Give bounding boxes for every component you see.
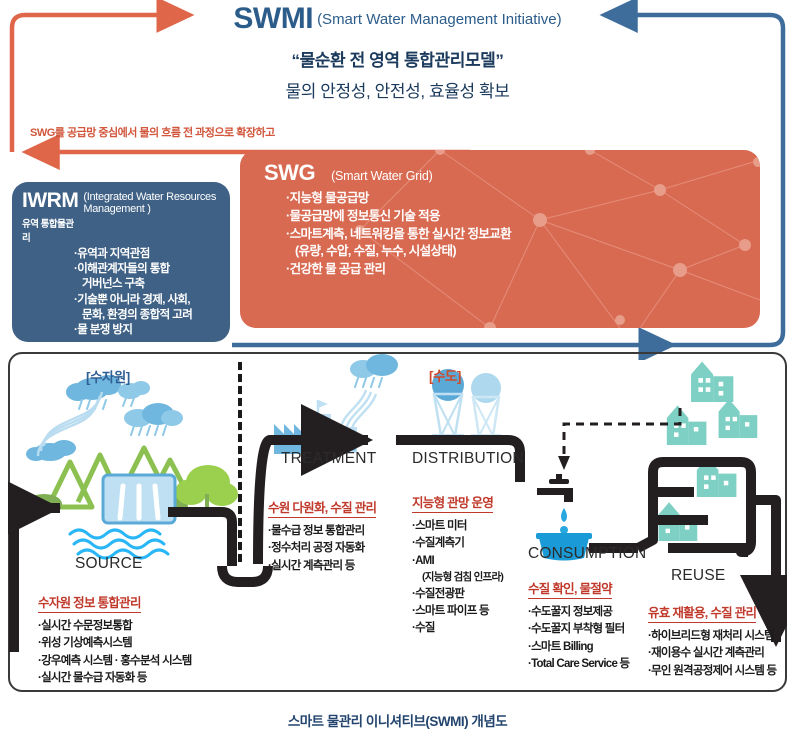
detail-title: 수질 확인, 물절약 [528,578,612,599]
list-item: 수질전광판 [412,586,503,603]
list-item: Total Care Service 등 [528,656,629,673]
stage-label-consumption: CONSUMPTION [528,545,646,563]
swg-bullet-list: 지능형 물공급망 물공급망에 정보통신 기술 적용 스마트계측, 네트워킹을 통… [286,190,760,279]
swmi-acronym: SWMI [233,2,313,35]
swg-expansion-note: SWG를 공급망 중심에서 물의 흐름 전 과정으로 확장하고 [30,124,275,140]
faucet-icon [537,474,573,502]
iwrm-box: IWRM 유역 통합물관리 (Integrated Water Resource… [12,182,230,342]
detail-list: 수도꿀지 정보제공 수도꿀지 부착형 필터 스마트 Billing Total … [528,604,629,673]
list-item: 거버넌스 구축 [74,277,220,292]
list-item: 위성 기상예측시스템 [38,635,192,652]
bracket-water-resources: [수자원] [86,366,130,386]
recycle-dashed-line [564,408,680,460]
detail-title: 수원 다원화, 수질 관리 [268,497,376,518]
list-item: 하이브리드형 재처리 시스템 [648,628,776,645]
houses-icon [659,362,758,541]
list-item: 스마트계측, 네트워킹을 통한 실시간 정보교환 [286,226,760,244]
detail-block-treatment: 수원 다원화, 수질 관리 물수급 정보 통합관리 정수처리 공정 자동화 실시… [268,497,376,575]
detail-list: 물수급 정보 통합관리 정수처리 공정 자동화 실시간 계측관리 등 [268,523,376,575]
detail-block-consumption: 수질 확인, 물절약 수도꿀지 정보제공 수도꿀지 부착형 필터 스마트 Bil… [528,578,629,673]
swmi-subtitle-line1: “물순환 전 영역 통합관리모델” [0,46,795,71]
list-item: 스마트 미터 [412,518,503,535]
list-item: 물수급 정보 통합관리 [268,523,376,540]
swmi-full-name: (Smart Water Management Initiative) [317,11,562,28]
figure-caption: 스마트 물관리 이니셔티브(SWMI) 개념도 [0,710,795,730]
detail-title: 유효 재활용, 수질 관리 [648,602,756,623]
list-item: 강우예측 시스템 · 홍수분석 시스템 [38,653,192,670]
page-title: SWMI(Smart Water Management Initiative) [0,2,795,36]
iwrm-full-name: (Integrated Water Resources Management ) [83,191,220,215]
stage-label-reuse: REUSE [671,567,725,585]
list-item: 스마트 Billing [528,639,629,656]
list-item: 수질 [412,620,503,637]
cloud-icon-low [26,440,76,461]
list-item: 재이용수 실시간 계측관리 [648,645,776,662]
detail-block-source: 수자원 정보 통합관리 실시간 수문정보통합 위성 기상예측시스템 강우예측 시… [38,592,192,687]
list-item: 실시간 계측관리 등 [268,558,376,575]
list-item: (지능형 검침 인프라) [412,570,503,586]
list-item: 물 분쟁 방지 [74,323,220,338]
detail-title: 지능형 관망 운영 [412,492,493,513]
dashed-arrow-head [558,456,570,470]
detail-list: 스마트 미터 수질계측기 AMI (지능형 검침 인프라) 수질전광판 스마트 … [412,518,503,637]
detail-list: 실시간 수문정보통합 위성 기상예측시스템 강우예측 시스템 · 홍수분석 시스… [38,618,192,687]
dam-icon [103,475,175,523]
swmi-subtitle: “물순환 전 영역 통합관리모델” 물의 안정성, 안전성, 효율성 확보 [0,46,795,102]
water-tower-icon-2 [471,373,501,439]
list-item: 실시간 물수급 자동화 등 [38,670,192,687]
list-item: AMI [412,553,503,570]
list-item: 실시간 수문정보통합 [38,618,192,635]
list-item: 수도꿀지 정보제공 [528,604,629,621]
list-item: 무인 원격공정제어 시스템 등 [648,663,776,680]
list-item: 물공급망에 정보통신 기술 적용 [286,208,760,226]
swg-acronym: SWG [264,160,315,186]
swg-box: SWG (Smart Water Grid) 지능형 물공급망 물공급망에 정보… [240,150,760,328]
list-item: 수도꿀지 부착형 필터 [528,621,629,638]
tree-icon [175,465,238,510]
swg-full-name: (Smart Water Grid) [331,169,433,183]
list-item: 건강한 물 공급 관리 [286,261,760,279]
cloud-rain-icon-2 [124,403,183,435]
divider-pipe-cap [222,566,268,582]
detail-block-distribution: 지능형 관망 운영 스마트 미터 수질계측기 AMI (지능형 검침 인프라) … [412,492,503,637]
list-item: 문화, 환경의 종합적 고려 [74,308,220,323]
list-item: 지능형 물공급망 [286,190,760,208]
detail-block-reuse: 유효 재활용, 수질 관리 하이브리드형 재처리 시스템 재이용수 실시간 계측… [648,602,776,680]
stage-label-source: SOURCE [75,555,143,573]
swmi-subtitle-line2: 물의 안정성, 안전성, 효율성 확보 [0,77,795,102]
bracket-waterworks: [수도] [429,365,461,385]
list-item: (유량, 수압, 수질, 누수, 시설상태) [286,243,760,261]
list-item: 정수처리 공정 자동화 [268,540,376,557]
detail-title: 수자원 정보 통합관리 [38,592,141,613]
list-item: 수질계측기 [412,535,503,552]
evaporation-streamlines [340,390,376,438]
iwrm-korean-label: 유역 통합물관리 [22,216,78,244]
list-item: 이해관계자들의 통합 [74,262,220,277]
list-item: 스마트 파이프 등 [412,603,503,620]
stage-label-treatment: TREATMENT [281,450,376,468]
water-waves-icon [70,530,168,558]
iwrm-bullet-list: 유역과 지역관점 이해관계자들의 통합 거버넌스 구축 기술뿐 아니라 경제, … [74,247,220,338]
water-drop-icon [560,508,568,534]
list-item: 유역과 지역관점 [74,247,220,262]
iwrm-acronym: IWRM [22,190,78,211]
list-item: 기술뿐 아니라 경제, 사회, [74,293,220,308]
stage-label-distribution: DISTRIBUTION [412,450,524,468]
cloud-rain-icon-3 [350,354,398,387]
detail-list: 하이브리드형 재처리 시스템 재이용수 실시간 계측관리 무인 원격공정제어 시… [648,628,776,680]
